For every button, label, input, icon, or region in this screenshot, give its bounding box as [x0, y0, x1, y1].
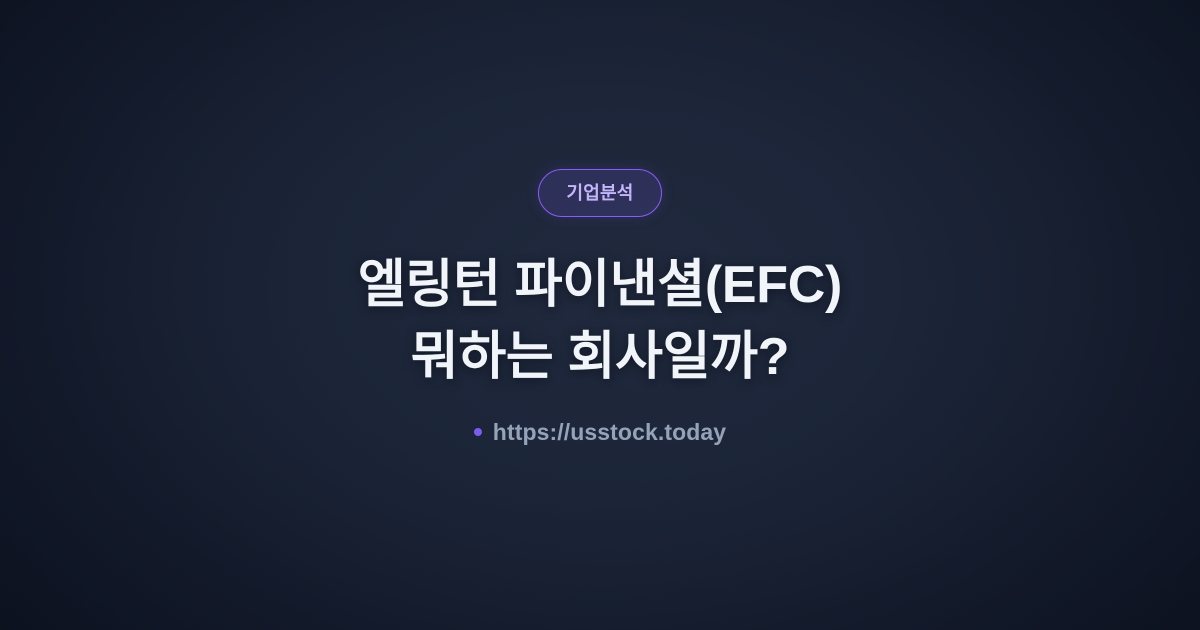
- site-url-label: https://usstock.today: [493, 421, 726, 444]
- og-card: 기업분석 엘링턴 파이낸셜(EFC) 뭐하는 회사일까? https://uss…: [0, 0, 1200, 630]
- page-title: 엘링턴 파이낸셜(EFC) 뭐하는 회사일까?: [358, 249, 842, 393]
- card-content: 기업분석 엘링턴 파이낸셜(EFC) 뭐하는 회사일까? https://uss…: [0, 169, 1200, 444]
- bullet-dot-icon: [474, 428, 482, 436]
- site-url: https://usstock.today: [474, 421, 726, 444]
- page-title-line-1: 엘링턴 파이낸셜(EFC): [358, 249, 842, 321]
- page-title-line-2: 뭐하는 회사일까?: [358, 321, 842, 393]
- category-badge: 기업분석: [538, 169, 661, 217]
